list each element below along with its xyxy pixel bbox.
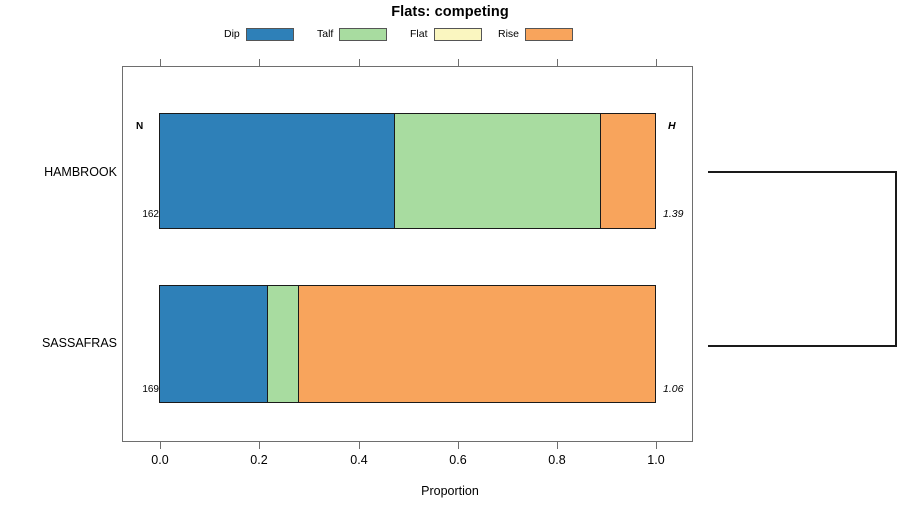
stacked-bar-sassafras[interactable] [159,285,656,403]
tick-bottom-3 [458,442,459,449]
legend-swatch-rise [525,28,573,41]
row-label-hambrook: HAMBROOK [12,165,117,179]
tick-bottom-5 [656,442,657,449]
bar-segment-talf[interactable] [394,114,600,228]
dendrogram-branch-top [708,171,897,173]
bar-segment-dip[interactable] [160,114,394,228]
legend-item-dip[interactable]: Dip [224,25,294,43]
row-label-sassafras: SASSAFRAS [12,336,117,350]
legend-label-talf: Talf [317,28,333,40]
chart-canvas: Flats: competing Dip Talf Flat Rise 0.0 … [0,0,900,520]
row-1-n-value: 169 [131,384,159,395]
row-0-n-value: 162 [131,209,159,220]
row-1-h-value: 1.06 [663,383,683,395]
bar-segment-rise[interactable] [600,114,655,228]
xtick-label-2: 0.4 [339,453,379,467]
tick-top-1 [259,59,260,66]
dendrogram-connector [895,171,897,347]
dendrogram-branch-bottom [708,345,897,347]
legend-item-talf[interactable]: Talf [317,25,387,43]
legend-swatch-flat [434,28,482,41]
x-axis-title: Proportion [0,484,900,498]
xtick-label-5: 1.0 [636,453,676,467]
xtick-label-1: 0.2 [239,453,279,467]
legend-item-rise[interactable]: Rise [498,25,573,43]
stacked-bar-hambrook[interactable] [159,113,656,229]
legend: Dip Talf Flat Rise [224,25,584,43]
chart-title: Flats: competing [0,4,900,20]
tick-top-2 [359,59,360,66]
bar-segment-rise[interactable] [298,286,655,402]
legend-item-flat[interactable]: Flat [410,25,482,43]
tick-top-0 [160,59,161,66]
xtick-label-0: 0.0 [140,453,180,467]
tick-bottom-2 [359,442,360,449]
row-0-h-value: 1.39 [663,208,683,220]
legend-label-flat: Flat [410,28,428,40]
legend-swatch-dip [246,28,294,41]
dendrogram-bracket [705,160,900,360]
row-0-h-header: H [668,120,676,132]
tick-bottom-4 [557,442,558,449]
row-0-n-header: N [136,121,143,132]
tick-bottom-0 [160,442,161,449]
legend-label-dip: Dip [224,28,240,40]
legend-label-rise: Rise [498,28,519,40]
tick-top-4 [557,59,558,66]
legend-swatch-talf [339,28,387,41]
xtick-label-4: 0.8 [537,453,577,467]
tick-bottom-1 [259,442,260,449]
xtick-label-3: 0.6 [438,453,478,467]
tick-top-3 [458,59,459,66]
tick-top-5 [656,59,657,66]
bar-segment-dip[interactable] [160,286,267,402]
bar-segment-talf[interactable] [267,286,298,402]
